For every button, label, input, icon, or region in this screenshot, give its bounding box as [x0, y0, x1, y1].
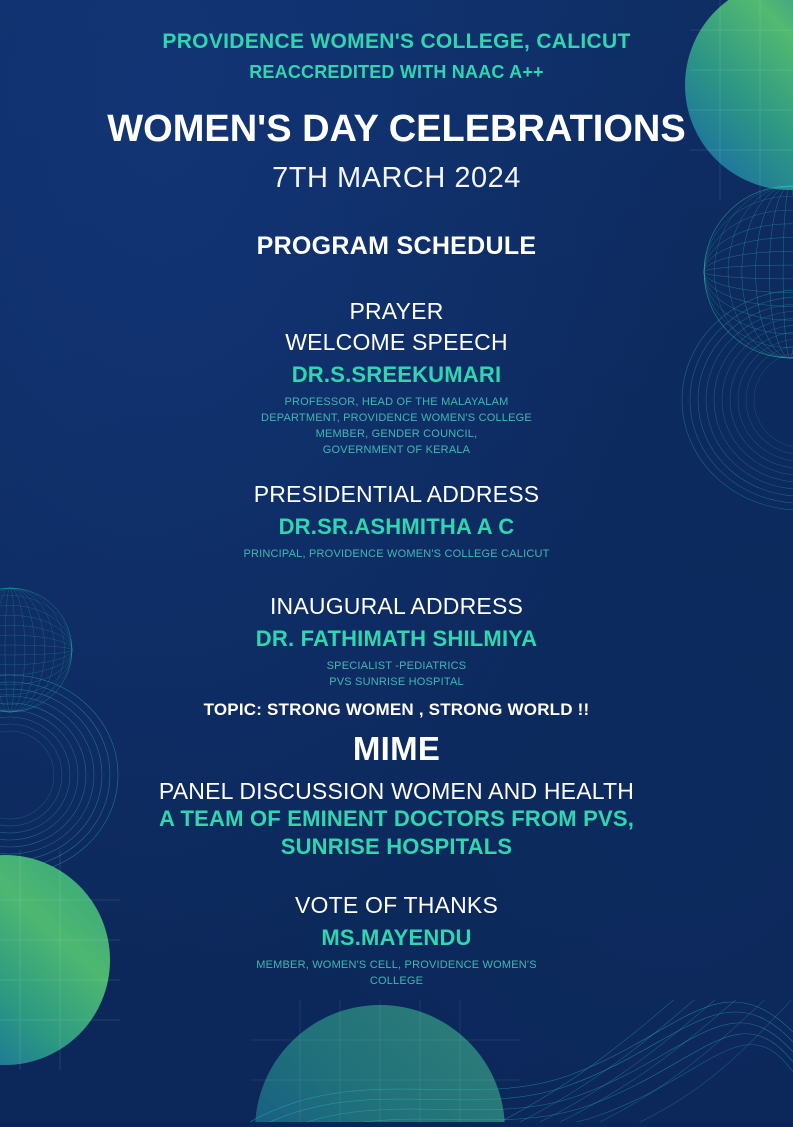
speaker-detail-line: PROFESSOR, HEAD OF THE MALAYALAM — [0, 395, 793, 411]
speaker-details: MEMBER, WOMEN'S CELL, PROVIDENCE WOMEN'S… — [0, 958, 793, 990]
schedule-item-title: PRAYER — [0, 296, 793, 327]
speaker-details: PROFESSOR, HEAD OF THE MALAYALAM DEPARTM… — [0, 395, 793, 459]
speaker-detail-line: COLLEGE — [0, 974, 793, 990]
spacer — [0, 563, 793, 591]
schedule-item-vote-of-thanks: VOTE OF THANKS MS.MAYENDU MEMBER, WOMEN'… — [0, 890, 793, 990]
speaker-name: MS.MAYENDU — [0, 924, 793, 953]
panel-team-label: A TEAM OF EMINENT DOCTORS FROM PVS, SUNR… — [147, 805, 647, 862]
schedule-item-title: INAUGURAL ADDRESS — [0, 591, 793, 622]
content-layer: PROVIDENCE WOMEN'S COLLEGE, CALICUT REAC… — [0, 0, 793, 1122]
spacer — [0, 768, 793, 778]
page-title: WOMEN'S DAY CELEBRATIONS — [0, 108, 793, 151]
talk-topic: TOPIC: STRONG WOMEN , STRONG WORLD !! — [0, 700, 793, 720]
speaker-name: DR.SR.ASHMITHA A C — [0, 513, 793, 542]
poster-background: PROVIDENCE WOMEN'S COLLEGE, CALICUT REAC… — [0, 0, 793, 1122]
spacer — [0, 459, 793, 479]
schedule-heading: PROGRAM SCHEDULE — [0, 232, 793, 261]
naac-accreditation-line: REACCREDITED WITH NAAC A++ — [0, 62, 793, 83]
schedule-item-panel-discussion: PANEL DISCUSSION WOMEN AND HEALTH — [0, 778, 793, 805]
speaker-detail-line: MEMBER, GENDER COUNCIL, — [0, 427, 793, 443]
schedule-item-title: VOTE OF THANKS — [0, 890, 793, 921]
schedule-item-presidential-address: PRESIDENTIAL ADDRESS DR.SR.ASHMITHA A C … — [0, 479, 793, 563]
college-name: PROVIDENCE WOMEN'S COLLEGE, CALICUT — [0, 30, 793, 54]
speaker-name: DR.S.SREEKUMARI — [0, 361, 793, 390]
spacer — [0, 862, 793, 890]
speaker-detail-line: GOVERNMENT OF KERALA — [0, 443, 793, 459]
speaker-details: PRINCIPAL, PROVIDENCE WOMEN'S COLLEGE CA… — [0, 547, 793, 563]
speaker-detail-line: SPECIALIST -PEDIATRICS — [0, 659, 793, 675]
program-schedule-list: PRAYER WELCOME SPEECH DR.S.SREEKUMARI PR… — [0, 296, 793, 990]
speaker-name: DR. FATHIMATH SHILMIYA — [0, 625, 793, 654]
speaker-detail-line: MEMBER, WOMEN'S CELL, PROVIDENCE WOMEN'S — [0, 958, 793, 974]
schedule-item-prayer-welcome: PRAYER WELCOME SPEECH DR.S.SREEKUMARI PR… — [0, 296, 793, 459]
speaker-detail-line: PRINCIPAL, PROVIDENCE WOMEN'S COLLEGE CA… — [0, 547, 793, 563]
schedule-item-title: PRESIDENTIAL ADDRESS — [0, 479, 793, 510]
event-date: 7TH MARCH 2024 — [0, 162, 793, 195]
speaker-detail-line: DEPARTMENT, PROVIDENCE WOMEN'S COLLEGE — [0, 411, 793, 427]
speaker-detail-line: PVS SUNRISE HOSPITAL — [0, 675, 793, 691]
schedule-item-mime: MIME — [0, 730, 793, 768]
speaker-details: SPECIALIST -PEDIATRICS PVS SUNRISE HOSPI… — [0, 659, 793, 691]
spacer — [0, 720, 793, 730]
schedule-item-title: WELCOME SPEECH — [0, 327, 793, 358]
schedule-item-inaugural-address: INAUGURAL ADDRESS DR. FATHIMATH SHILMIYA… — [0, 591, 793, 720]
